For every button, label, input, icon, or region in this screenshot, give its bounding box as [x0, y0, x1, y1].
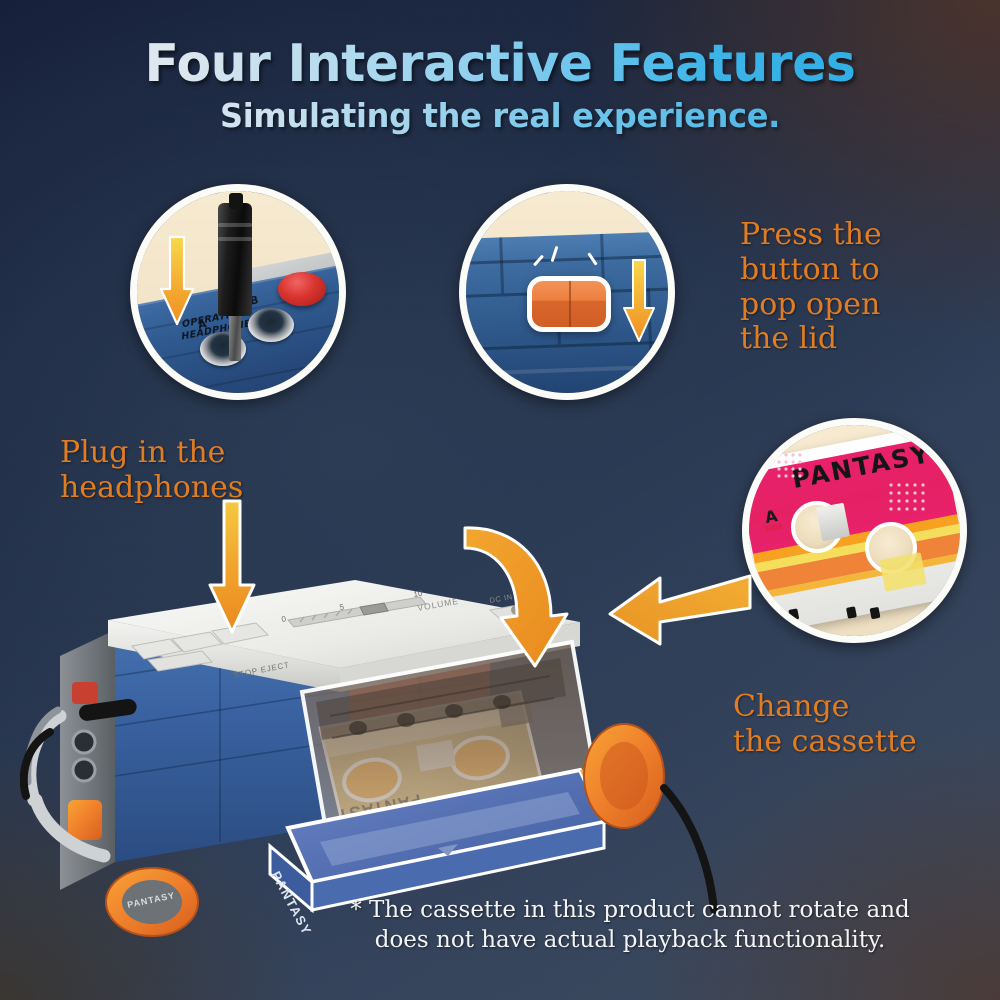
inset-background — [466, 191, 668, 393]
volume-max-label: 10 — [413, 588, 424, 599]
arrow-to-headphone-jack — [206, 498, 258, 643]
callout-line: the lid — [740, 322, 882, 357]
headphone-plug — [218, 203, 252, 316]
plug-cable-tip — [229, 193, 243, 209]
callout-change-cassette: Change the cassette — [733, 690, 917, 760]
orange-side-button — [68, 800, 102, 840]
headphone-cable-right — [664, 788, 714, 910]
callout-plug-headphones: Plug in the headphones — [60, 436, 243, 506]
down-arrow-icon — [622, 258, 656, 344]
footnote: * The cassette in this product cannot ro… — [280, 896, 980, 956]
callout-line: Change — [733, 690, 917, 725]
socket-a-label: A — [196, 318, 207, 332]
callout-line: Plug in the — [60, 436, 243, 471]
page-title: Four Interactive Features — [15, 34, 985, 94]
page-subtitle: Simulating the real experience. — [15, 96, 985, 135]
callout-line: Press the — [740, 218, 882, 253]
callout-line: pop open — [740, 288, 882, 323]
headphone-socket-b — [248, 308, 294, 342]
label-dot-pattern-left — [776, 452, 812, 488]
red-button — [278, 272, 326, 306]
footnote-line: does not have actual playback functional… — [280, 926, 980, 956]
headband — [30, 716, 60, 800]
callout-press-button: Press the button to pop open the lid — [740, 218, 882, 357]
down-arrow-icon — [159, 235, 195, 327]
inset-background: OPERATION HEADPHONES A B — [137, 191, 339, 393]
callout-line: headphones — [60, 471, 243, 506]
eject-button — [527, 276, 612, 333]
heading-block: Four Interactive Features Simulating the… — [0, 34, 1000, 135]
lego-cassette-player: 0 5 10 VOLUME STOP EJECT DC IN 4.5V PANT… — [20, 470, 720, 940]
footnote-line: * The cassette in this product cannot ro… — [280, 896, 980, 926]
eject-button-inset — [459, 184, 675, 400]
jack-socket-a — [73, 731, 95, 753]
arrow-to-cassette — [604, 568, 754, 659]
cassette-inset: PANTASY A SIDE — [742, 418, 967, 643]
arrow-to-lid — [455, 520, 575, 685]
cassette-window — [816, 503, 850, 542]
jack-socket-b — [73, 759, 95, 781]
headphone-jack-inset: OPERATION HEADPHONES A B — [130, 184, 346, 400]
callout-line: the cassette — [733, 725, 917, 760]
inset-background: PANTASY A SIDE — [749, 425, 960, 636]
callout-line: button to — [740, 253, 882, 288]
record-button — [72, 682, 98, 704]
label-dot-pattern-right — [888, 482, 930, 518]
